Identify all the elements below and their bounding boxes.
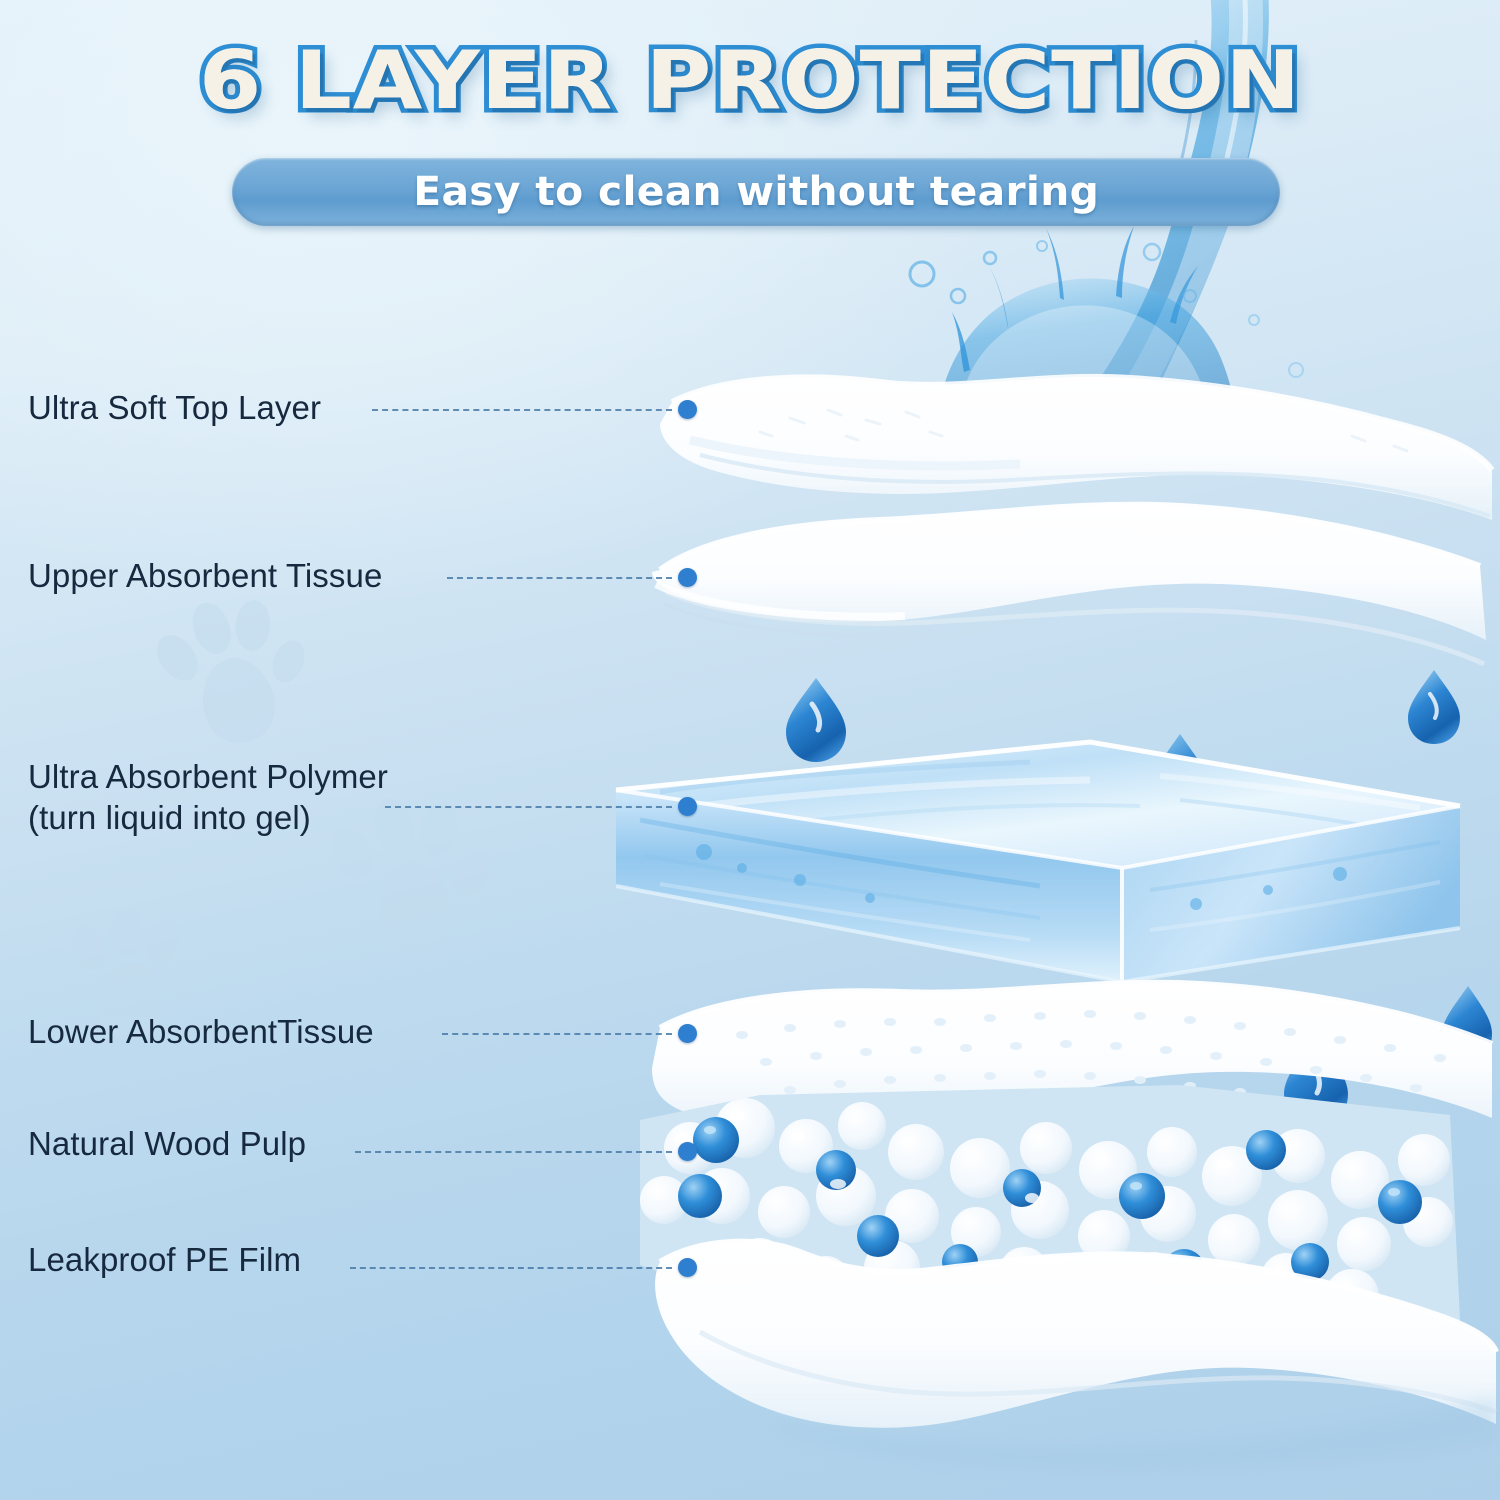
leader-dot-lower-absorbent-tissue — [678, 1024, 697, 1043]
leader-line-ultra-absorbent-polymer — [385, 806, 672, 808]
leader-line-lower-absorbent-tissue — [442, 1033, 672, 1035]
infographic-canvas: 6 LAYER PROTECTION 6 LAYER PROTECTION Ea… — [0, 0, 1500, 1500]
leader-dot-ultra-absorbent-polymer — [678, 797, 697, 816]
label-upper-absorbent-tissue: Upper Absorbent Tissue — [28, 556, 382, 596]
top-nonwoven-sheet — [660, 377, 1492, 520]
leader-dot-upper-absorbent-tissue — [678, 568, 697, 587]
subtitle-banner: Easy to clean without tearing — [232, 158, 1280, 226]
subtitle-text: Easy to clean without tearing — [413, 169, 1099, 215]
leader-line-leakproof-pe-film — [350, 1267, 672, 1269]
headline-container: 6 LAYER PROTECTION — [0, 34, 1500, 127]
label-ultra-absorbent-polymer: Ultra Absorbent Polymer — [28, 757, 388, 797]
leader-line-ultra-soft-top-layer — [372, 409, 672, 411]
leader-dot-natural-wood-pulp — [678, 1142, 697, 1161]
label-lower-absorbent-tissue: Lower AbsorbentTissue — [28, 1012, 374, 1052]
absorbent-polymer-gel-slab — [616, 742, 1460, 982]
page-title: 6 LAYER PROTECTION — [199, 34, 1301, 127]
leader-dot-leakproof-pe-film — [678, 1258, 697, 1277]
leader-line-natural-wood-pulp — [355, 1151, 672, 1153]
label-ultra-absorbent-polymer-sub: (turn liquid into gel) — [28, 798, 311, 838]
label-ultra-soft-top-layer: Ultra Soft Top Layer — [28, 388, 321, 428]
label-natural-wood-pulp: Natural Wood Pulp — [28, 1124, 306, 1164]
label-leakproof-pe-film: Leakproof PE Film — [28, 1240, 301, 1280]
leader-dot-ultra-soft-top-layer — [678, 400, 697, 419]
leader-line-upper-absorbent-tissue — [447, 577, 672, 579]
upper-tissue-sheet — [652, 505, 1486, 664]
